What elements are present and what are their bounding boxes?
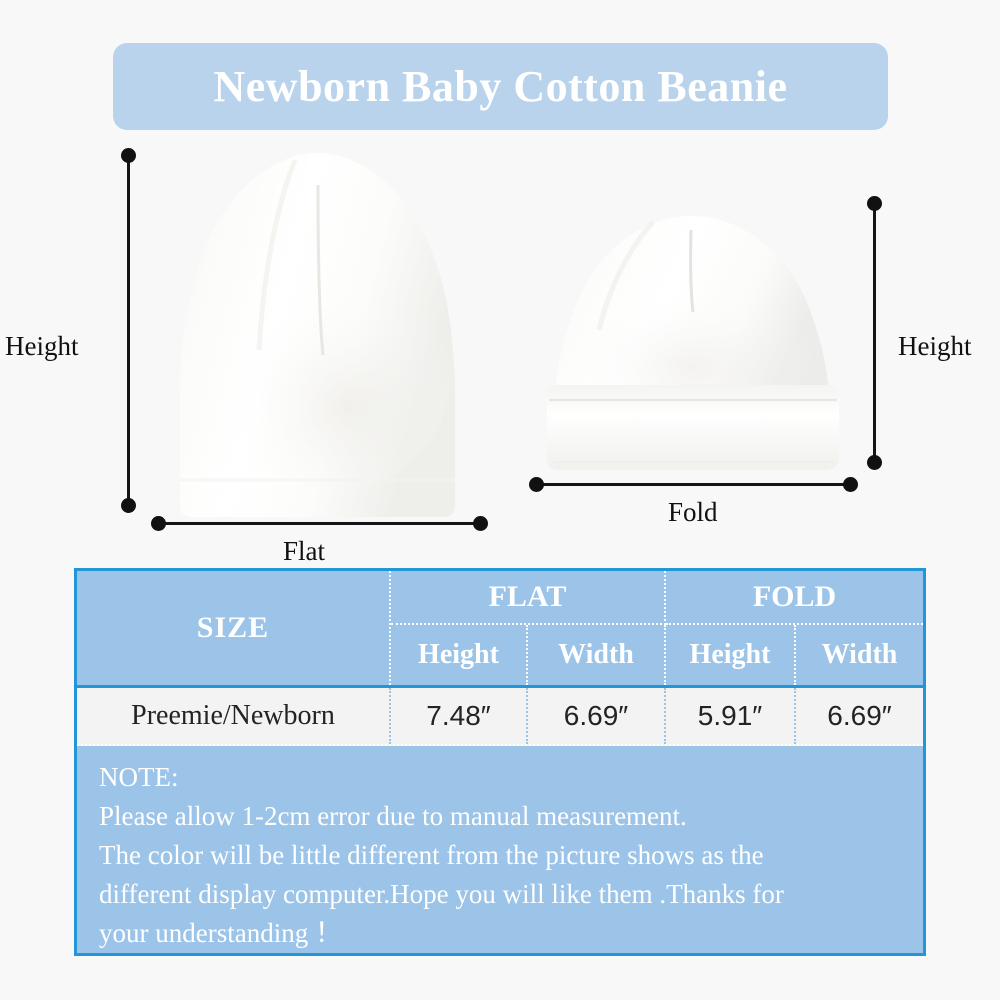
- note-line: different display computer.Hope you will…: [99, 875, 923, 914]
- flat-beanie-image: [155, 150, 480, 520]
- fold-width-guide-dot-left: [529, 477, 544, 492]
- table-header-flat-width: Width: [528, 625, 666, 685]
- flat-width-label: Flat: [283, 536, 325, 567]
- table-header-fold-height: Height: [666, 625, 796, 685]
- flat-width-guide-line: [158, 522, 480, 525]
- table-header-fold-height-label: Height: [690, 641, 771, 669]
- note-line: The color will be little different from …: [99, 836, 923, 875]
- page-title: Newborn Baby Cotton Beanie: [213, 65, 787, 109]
- flat-height-guide-dot-bottom: [121, 498, 136, 513]
- table-header-flat-height: Height: [391, 625, 528, 685]
- flat-height-guide-dot-top: [121, 148, 136, 163]
- note-line: Please allow 1-2cm error due to manual m…: [99, 797, 923, 836]
- fold-height-label: Height: [898, 331, 972, 362]
- flat-width-guide-dot-right: [473, 516, 488, 531]
- fold-height-guide-dot-bottom: [867, 455, 882, 470]
- fold-width-guide-line: [536, 483, 850, 486]
- table-header-flat-height-label: Height: [418, 641, 499, 669]
- note-box: NOTE: Please allow 1-2cm error due to ma…: [77, 746, 923, 953]
- table-header-fold-label: FOLD: [753, 582, 836, 612]
- cell-fold-height: 5.91″: [666, 688, 796, 744]
- size-table: SIZE FLAT FOLD Height Width Height Width…: [74, 568, 926, 956]
- flat-width-guide-dot-left: [151, 516, 166, 531]
- table-header-group-flat: FLAT: [391, 571, 666, 625]
- table-header-size-label: SIZE: [197, 613, 269, 643]
- flat-height-guide-line: [127, 157, 130, 507]
- table-header-group-fold: FOLD: [666, 571, 923, 625]
- size-chart-page: Newborn Baby Cotton Beanie: [0, 0, 1000, 1000]
- table-header-size: SIZE: [77, 571, 391, 685]
- fold-height-guide-line: [873, 204, 876, 462]
- cell-size: Preemie/Newborn: [77, 688, 391, 744]
- table-header-flat-label: FLAT: [489, 582, 567, 612]
- table-header-flat-width-label: Width: [558, 641, 634, 669]
- table-header-fold-width-label: Width: [822, 641, 898, 669]
- table-header: SIZE FLAT FOLD Height Width Height Width: [77, 571, 923, 688]
- fold-width-guide-dot-right: [843, 477, 858, 492]
- title-banner: Newborn Baby Cotton Beanie: [113, 43, 888, 130]
- fold-beanie-image: [533, 200, 853, 485]
- cell-flat-height: 7.48″: [391, 688, 528, 744]
- cell-flat-width: 6.69″: [528, 688, 666, 744]
- fold-width-label: Fold: [668, 497, 718, 528]
- table-header-fold-width: Width: [796, 625, 923, 685]
- cell-fold-width: 6.69″: [796, 688, 923, 744]
- note-line: your understanding ！: [99, 914, 923, 953]
- fold-height-guide-dot-top: [867, 196, 882, 211]
- table-row: Preemie/Newborn 7.48″ 6.69″ 5.91″ 6.69″: [77, 688, 923, 746]
- flat-height-label: Height: [5, 331, 79, 362]
- note-line: NOTE:: [99, 758, 923, 797]
